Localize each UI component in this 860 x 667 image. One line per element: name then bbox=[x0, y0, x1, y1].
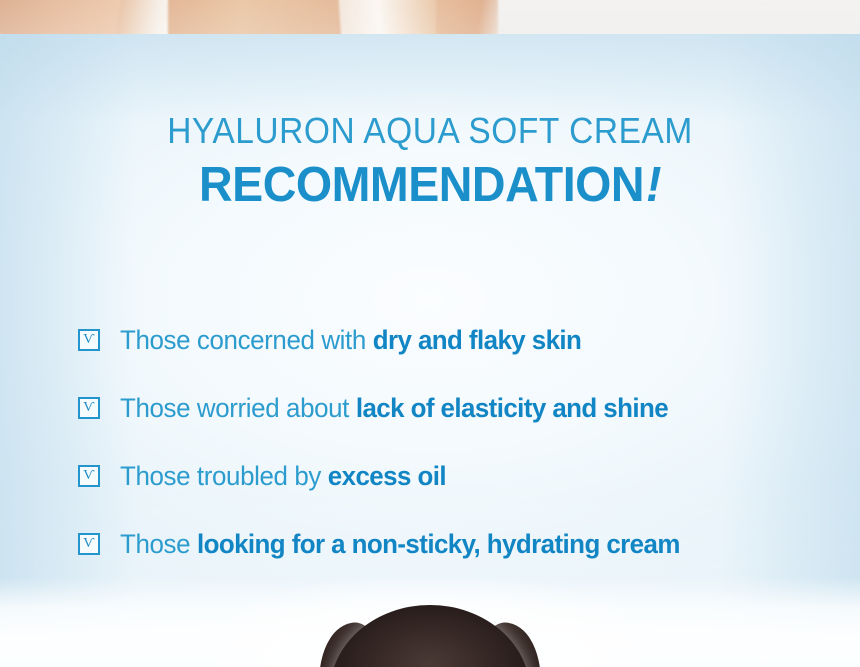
list-item-lead: Those bbox=[120, 529, 197, 559]
page-title-text: RECOMMENDATION bbox=[199, 158, 644, 212]
list-item-text: Those troubled by excess oil bbox=[120, 461, 446, 492]
list-item-lead: Those worried about bbox=[120, 393, 356, 423]
checkbox-v-glyph: Ѵ bbox=[83, 469, 94, 483]
checkbox-v-glyph: Ѵ bbox=[83, 537, 94, 551]
list-item-emphasis: looking for a non-sticky, hydrating crea… bbox=[197, 529, 680, 559]
recommendation-list: Ѵ Those concerned with dry and flaky ski… bbox=[78, 306, 838, 578]
photo-blur-overlay bbox=[0, 0, 860, 34]
top-skin-photo bbox=[0, 0, 860, 34]
checkbox-v-icon: Ѵ bbox=[78, 465, 100, 487]
list-item: Ѵ Those concerned with dry and flaky ski… bbox=[78, 306, 838, 374]
list-item-text: Those looking for a non-sticky, hydratin… bbox=[120, 529, 680, 560]
checkbox-v-icon: Ѵ bbox=[78, 329, 100, 351]
checkbox-v-icon: Ѵ bbox=[78, 397, 100, 419]
list-item: Ѵ Those troubled by excess oil bbox=[78, 442, 838, 510]
page-title-exclamation: ! bbox=[644, 158, 661, 212]
list-item-lead: Those concerned with bbox=[120, 325, 373, 355]
list-item: Ѵ Those worried about lack of elasticity… bbox=[78, 374, 838, 442]
bottom-model-photo bbox=[0, 577, 860, 667]
list-item-lead: Those troubled by bbox=[120, 461, 328, 491]
product-kicker: HYALURON AQUA SOFT CREAM bbox=[30, 112, 830, 150]
checkbox-v-glyph: Ѵ bbox=[83, 333, 94, 347]
list-item-emphasis: lack of elasticity and shine bbox=[356, 393, 668, 423]
heading-block: HYALURON AQUA SOFT CREAM RECOMMENDATION! bbox=[0, 112, 860, 211]
list-item: Ѵ Those looking for a non-sticky, hydrat… bbox=[78, 510, 838, 578]
page-title: RECOMMENDATION! bbox=[22, 160, 839, 211]
list-item-emphasis: excess oil bbox=[328, 461, 446, 491]
checkbox-v-glyph: Ѵ bbox=[83, 401, 94, 415]
list-item-emphasis: dry and flaky skin bbox=[373, 325, 582, 355]
list-item-text: Those concerned with dry and flaky skin bbox=[120, 325, 581, 356]
checkbox-v-icon: Ѵ bbox=[78, 533, 100, 555]
promo-page: HYALURON AQUA SOFT CREAM RECOMMENDATION!… bbox=[0, 0, 860, 667]
list-item-text: Those worried about lack of elasticity a… bbox=[120, 393, 668, 424]
